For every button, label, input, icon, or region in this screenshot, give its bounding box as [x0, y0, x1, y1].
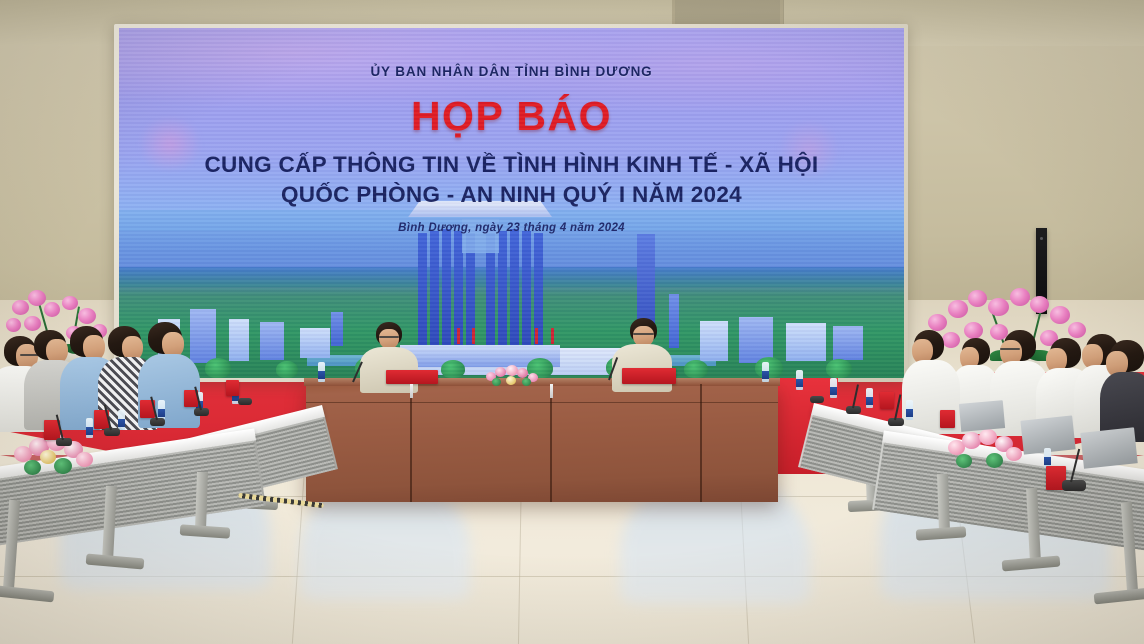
banner-date: Bình Dương, ngày 23 tháng 4 năm 2024 [119, 222, 904, 234]
water-bottle [318, 362, 325, 382]
laptop[interactable] [959, 400, 1005, 432]
water-bottle [118, 410, 125, 430]
water-bottle [1044, 448, 1051, 468]
microphone-base [238, 398, 252, 405]
water-bottle [906, 400, 913, 420]
microphone-base [810, 396, 824, 403]
banner-organization: ỦY BAN NHÂN DÂN TỈNH BÌNH DƯƠNG [119, 64, 904, 79]
right-table-flower-arrangement [948, 428, 1024, 468]
water-bottle [796, 370, 803, 390]
banner-subtitle-1: CUNG CẤP THÔNG TIN VỀ TÌNH HÌNH KINH TẾ … [119, 150, 904, 180]
presidium-nameplate-right [622, 368, 676, 384]
water-bottle [158, 400, 165, 420]
presidium-table [306, 384, 778, 502]
presidium-flower-arrangement [484, 364, 544, 386]
laptop[interactable] [1080, 427, 1137, 468]
screen-cityscape [119, 210, 904, 378]
banner-event-title: HỌP BÁO [119, 93, 904, 140]
screen-banner: ỦY BAN NHÂN DÂN TỈNH BÌNH DƯƠNG HỌP BÁO … [119, 28, 904, 234]
led-screen[interactable]: ỦY BAN NHÂN DÂN TỈNH BÌNH DƯƠNG HỌP BÁO … [119, 28, 904, 378]
banner-subtitle-2: QUỐC PHÒNG - AN NINH QUÝ I NĂM 2024 [119, 180, 904, 210]
right-attendee-5 [1100, 340, 1144, 442]
water-bottle [830, 378, 837, 398]
right-name-card [880, 392, 894, 409]
right-name-card [940, 410, 955, 428]
water-bottle [86, 418, 93, 438]
microphone-base [1062, 480, 1086, 491]
water-bottle [866, 388, 873, 408]
left-name-card [226, 380, 239, 396]
meeting-room-photo: ỦY BAN NHÂN DÂN TỈNH BÌNH DƯƠNG HỌP BÁO … [0, 0, 1144, 644]
presidium-nameplate-left [386, 370, 438, 384]
water-bottle [762, 362, 769, 382]
